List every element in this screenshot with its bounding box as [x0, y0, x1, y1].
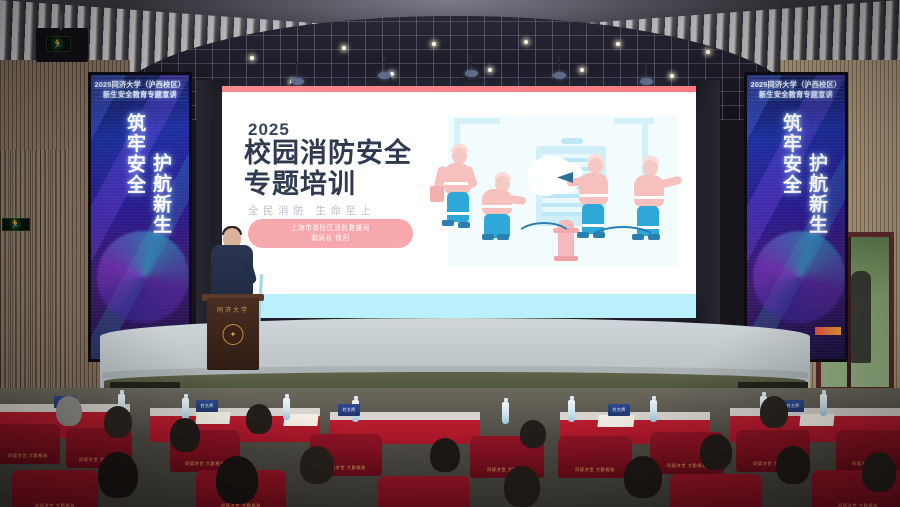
screen-bezel-right — [694, 80, 720, 326]
door-header-plate — [561, 138, 583, 144]
led-vertical-text-left: 筑牢安全 — [777, 113, 804, 195]
audience-member — [246, 404, 272, 434]
dome-lamp — [432, 42, 436, 46]
slide-subtitle: 全民消防 生命至上 — [248, 203, 375, 218]
audience-member — [104, 406, 132, 438]
audience-seat: 同德济世 大勤格致 — [378, 476, 470, 507]
place-name-card: 姓名牌 — [608, 404, 630, 416]
jacket-reflective-stripe — [579, 194, 608, 197]
led-header-text: 2025同济大学（沪西校区） 新生安全教育专题宣讲 — [94, 80, 186, 101]
place-name-card: 姓名牌 — [196, 400, 218, 412]
slide-title-line1: 校园消防安全 — [244, 138, 412, 169]
window-silhouette — [851, 271, 871, 363]
audience-member — [216, 456, 258, 504]
firefighter-boot — [458, 222, 470, 228]
firefighter-boot — [482, 234, 494, 240]
led-vertical-text-right: 护航新生 — [147, 153, 174, 235]
firefighter-head — [588, 158, 603, 174]
jacket-reflective-stripe — [634, 196, 664, 199]
audience-member — [760, 396, 788, 428]
water-bottle — [650, 400, 657, 422]
water-bottle — [568, 400, 575, 422]
firefighter-illustration — [418, 110, 696, 294]
firefighter-trousers — [447, 192, 469, 222]
firefighter-boot — [442, 220, 454, 226]
badge-speaker: 副局长 徐阳 — [311, 234, 349, 244]
led-vertical-text-right: 护航新生 — [803, 153, 830, 235]
led-graphic-circle — [97, 231, 189, 323]
badge-organization: 上海市普陀区消防救援局 — [291, 224, 370, 234]
led-panel-right: 2025同济大学（沪西校区） 新生安全教育专题宣讲 筑牢安全 护航新生 — [744, 72, 848, 362]
running-man-icon: 🏃 — [52, 40, 64, 49]
audience-member — [504, 466, 540, 507]
led-header-line1: 2025同济大学（沪西校区） — [750, 80, 842, 90]
table-surface — [560, 412, 710, 420]
dome-lamp — [670, 74, 674, 78]
audience-member — [624, 456, 662, 498]
firefighter-boot — [497, 234, 509, 240]
water-bottle — [502, 402, 509, 424]
audience-seat: 同德济世 大勤格致 — [0, 424, 60, 464]
led-color-bar — [815, 327, 841, 335]
seat-motto: 同德济世 大勤格致 — [12, 503, 98, 507]
audience-seat: 同德济世 大勤格致 — [12, 470, 98, 507]
audience-member — [776, 446, 810, 484]
fire-hose — [588, 226, 658, 256]
emergency-exit-sign: 🏃 — [2, 218, 30, 231]
document-sheet — [597, 415, 634, 427]
seat-motto: 同德济世 大勤格致 — [558, 467, 632, 473]
dome-lamp — [342, 46, 346, 50]
name-card-label: 姓名牌 — [338, 404, 360, 416]
water-bottle — [820, 394, 827, 416]
audience-member — [56, 396, 82, 426]
podium-institution-text: 同济大学 — [207, 305, 259, 314]
dome-lamp — [488, 68, 492, 72]
audience-seat: 同德济世 大勤格致 — [670, 474, 762, 507]
led-graphic-circle — [753, 231, 845, 323]
led-header-text: 2025同济大学（沪西校区） 新生安全教育专题宣讲 — [750, 80, 842, 101]
firefighter-jacket — [634, 175, 664, 207]
scaffold-beam — [614, 118, 654, 124]
left-wall-dark-panel — [0, 150, 70, 400]
audience-member — [98, 452, 138, 498]
jacket-reflective-stripe — [482, 205, 512, 208]
lectern-podium: 同济大学 ✦ — [207, 298, 259, 370]
led-vertical-text-left: 筑牢安全 — [121, 113, 148, 195]
emergency-exit-sign: 🏃 — [46, 36, 71, 52]
document-sheet — [195, 412, 230, 424]
audience-member — [430, 438, 460, 472]
slide-accent-bar-bottom — [222, 294, 696, 318]
slide-year: 2025 — [248, 120, 290, 140]
firefighter-arm — [659, 175, 682, 188]
place-name-card: 姓名牌 — [338, 404, 360, 416]
water-spray-cloud — [528, 156, 574, 192]
scaffold-beam — [454, 118, 500, 124]
dome-lamp — [706, 50, 710, 54]
audience-member — [170, 418, 200, 452]
seat-motto: 同德济世 大勤格致 — [0, 453, 60, 459]
firefighter-head — [452, 148, 467, 164]
audience-member — [520, 420, 546, 448]
dome-lamp — [580, 68, 584, 72]
audience-seat: 同德济世 大勤格致 — [558, 436, 632, 478]
firefighter-boot — [577, 232, 589, 238]
auditorium-scene: 🏃 🏃 2025同济大学（沪西校区） 新生安全教育专题宣讲 筑牢安全 护航新生 … — [0, 0, 900, 507]
firefighter-head — [643, 160, 658, 176]
dome-lamp — [524, 40, 528, 44]
audience-member — [700, 434, 732, 470]
document-sheet — [799, 414, 834, 426]
led-header-line2: 新生安全教育专题宣讲 — [94, 90, 186, 100]
slide-title: 校园消防安全 专题培训 — [244, 138, 412, 200]
dome-lamp — [616, 42, 620, 46]
led-header-line2: 新生安全教育专题宣讲 — [750, 90, 842, 100]
university-emblem-icon: ✦ — [223, 324, 244, 345]
name-card-label: 姓名牌 — [608, 404, 630, 416]
led-panel-left: 2025同济大学（沪西校区） 新生安全教育专题宣讲 筑牢安全 护航新生 — [88, 72, 192, 362]
trouser-stripe — [447, 212, 469, 215]
fire-hose — [514, 222, 574, 256]
name-card-label: 姓名牌 — [196, 400, 218, 412]
ceiling-sign-rod — [60, 14, 62, 30]
led-header-line1: 2025同济大学（沪西校区） — [94, 80, 186, 90]
audience-member — [862, 452, 896, 492]
speaker-credential-badge: 上海市普陀区消防救援局 副局长 徐阳 — [248, 219, 413, 248]
slide-accent-bar-top — [222, 86, 696, 92]
audience-member — [300, 446, 334, 484]
presentation-screen: 2025 校园消防安全 专题培训 全民消防 生命至上 上海市普陀区消防救援局 副… — [222, 86, 696, 318]
dome-lamp — [250, 56, 254, 60]
equipment-bag — [430, 186, 444, 202]
firefighter-jacket — [482, 189, 512, 215]
water-bottle — [182, 398, 189, 420]
slide-title-line2: 专题培训 — [244, 169, 412, 200]
water-bottle — [283, 398, 290, 420]
running-man-icon: 🏃 — [10, 220, 22, 229]
seat-motto: 同德济世 大勤格致 — [812, 503, 900, 507]
trouser-stripe — [582, 224, 604, 227]
